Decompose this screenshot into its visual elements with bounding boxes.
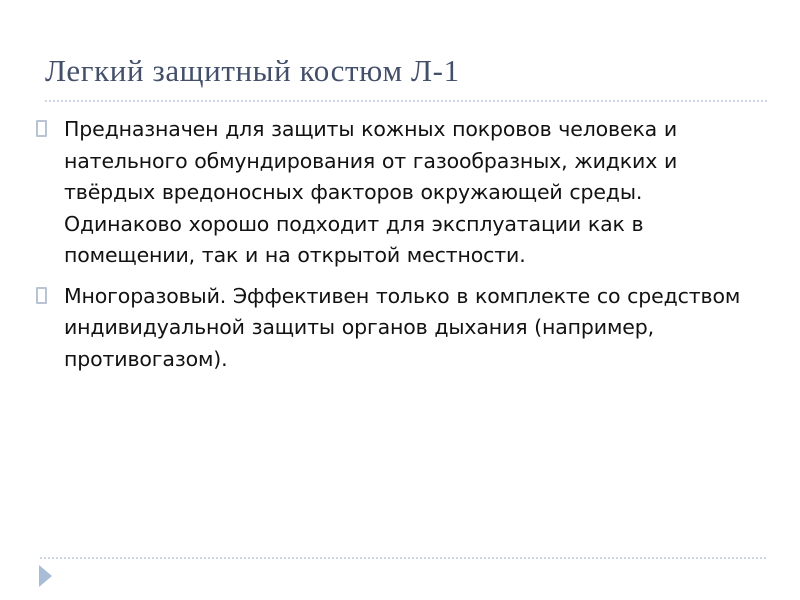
hollow-box-bullet-icon [36,120,47,137]
footer-divider [40,557,766,559]
play-triangle-icon [39,565,52,587]
slide-canvas: Легкий защитный костюм Л-1 Предназначен … [0,0,800,600]
list-item-text: Многоразовый. Эффективен только в компле… [64,281,766,376]
list-item: Предназначен для защиты кожных покровов … [36,114,766,272]
hollow-box-bullet-icon [36,287,47,304]
title-divider [45,100,767,102]
list-item: Многоразовый. Эффективен только в компле… [36,281,766,376]
slide-body: Предназначен для защиты кожных покровов … [36,114,766,384]
page-title: Легкий защитный костюм Л-1 [45,52,765,90]
list-item-text: Предназначен для защиты кожных покровов … [64,114,766,272]
